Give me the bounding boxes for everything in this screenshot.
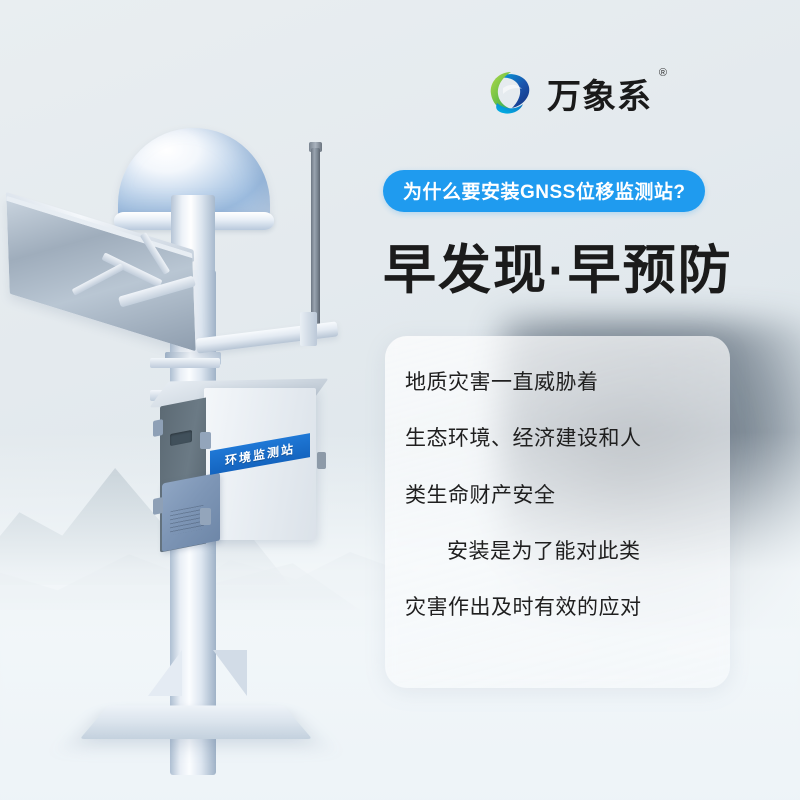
base-gusset-left [148, 650, 182, 696]
whip-antenna [311, 148, 320, 328]
poster-canvas: 环境监测站 [0, 0, 800, 800]
cross-arm-bracket [300, 312, 317, 346]
card-line-4: 安装是为了能对此类 [405, 539, 710, 565]
enclosure-bracket-upper [150, 358, 220, 368]
content-column: 万象系 ® 为什么要安装GNSS位移监测站? 早发现·早预防 地质灾害一直威胁着… [360, 0, 800, 800]
card-line-3: 类生命财产安全 [405, 483, 710, 509]
enclosure-hinge-bottom [153, 497, 163, 515]
card-line-1: 地质灾害一直威胁着 [405, 370, 710, 396]
card-line-5: 灾害作出及时有效的应对 [405, 595, 710, 621]
base-gusset-right [213, 650, 247, 696]
registered-trademark-icon: ® [659, 67, 668, 79]
enclosure-latch [317, 452, 326, 469]
anchor-base-plate [80, 706, 313, 740]
enclosure-clip-top [200, 432, 211, 449]
enclosure-box: 环境监测站 [152, 380, 324, 555]
card-line-2: 生态环境、经济建设和人 [405, 426, 710, 452]
question-badge: 为什么要安装GNSS位移监测站? [383, 170, 705, 212]
brand-name: 万象系 ® [547, 69, 652, 118]
brand-logo: 万象系 ® [485, 68, 652, 118]
headline: 早发现·早预防 [383, 228, 733, 304]
enclosure-hinge-top [153, 419, 163, 437]
brand-name-text: 万象系 [547, 78, 652, 116]
gnss-monitoring-station-illustration: 环境监测站 [0, 90, 380, 750]
description-card: 地质灾害一直威胁着 生态环境、经济建设和人 类生命财产安全 安装是为了能对此类 … [385, 336, 730, 688]
globe-swirl-logo-icon [485, 68, 535, 118]
enclosure-clip-bottom [200, 508, 211, 525]
